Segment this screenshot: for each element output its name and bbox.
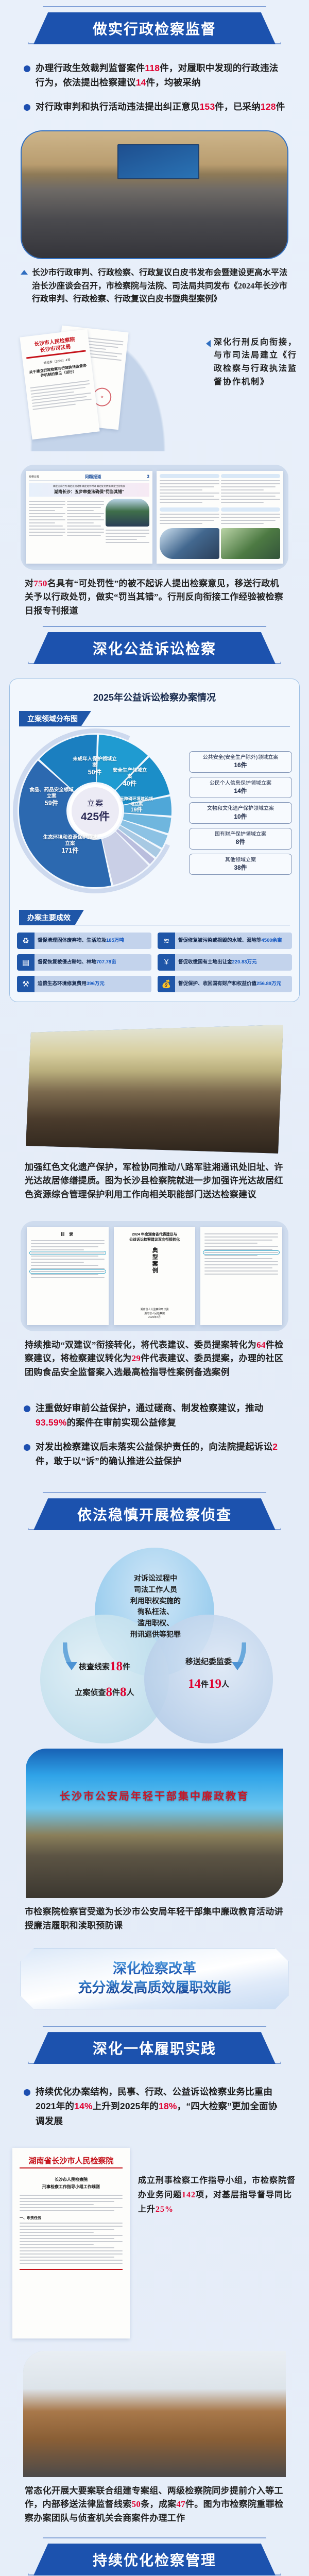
doc-caption-row: 深化行刑反向衔接，与市司法局建立《行政检察与行政执法监督协作机制》: [206, 336, 299, 388]
slice-label-minors: 未成年人保护领域立案50件: [73, 756, 117, 776]
legend-item: 公共安全(安全生产除外)领域立案16件: [189, 751, 292, 773]
bullet-text-pre: 注重做好审前公益保护，通过磋商、制发检察建议，推动: [36, 1403, 264, 1413]
photo-screen-title: 长沙市公安局年轻干部集中廉政教育: [26, 1788, 283, 1803]
photo-conference-whitepaper: [21, 130, 288, 259]
caption-post: 名具有“可处罚性”的被不起诉人提出检察意见，移送行政机关予以行政处罚，做实“罚当…: [25, 579, 283, 616]
bullet-number: 128: [261, 101, 276, 112]
bullet-text: 注重做好审前公益保护，通过磋商、制发检察建议，推动93.59%的案件在审前实现公…: [36, 1401, 285, 1430]
banner-label: 深化公益诉讼检察: [33, 632, 276, 664]
venn-left-line2: 立案侦查8件8人: [49, 1680, 160, 1705]
repair-icon: ⚒: [17, 976, 35, 992]
effect-item: ¥督促收缴国有土地出让金220.83万元: [158, 954, 292, 971]
venn-left-l2-number1: 8: [106, 1685, 112, 1699]
doc-center-title-1: 2024 年度湖南省代表建议与: [132, 1232, 177, 1238]
effect-text: 追偿生态环境修复费用396万元: [35, 979, 108, 989]
chart-title: 2025年公益诉讼检察办案情况: [17, 690, 292, 704]
bullet-dot-icon: [24, 1405, 30, 1412]
newspaper-page-left: 检察日报 问题报道 3 确定违法行为 确定处罚对象 确定处罚时效 确定处罚依据 …: [26, 471, 152, 564]
slice-label-text: 未成年人保护领域立案: [73, 756, 117, 768]
caption-pre: 对: [25, 579, 33, 588]
caption-a: 持续推动“双建议”衔接转化，将代表建议、委员提案转化为: [25, 1340, 256, 1350]
legend-item: 公民个人信息保护领域立案14件: [189, 777, 292, 799]
docs-three-wrap: 目 录 2024 年度湖南省代表建议与 公益诉讼检察建议双向衔接转化 典型案例 …: [0, 1218, 309, 1334]
venn-left-l2-unit2: 人: [127, 1689, 134, 1697]
effect-item: ≋督促修复被污染或损毁的水域、湿地等4500余亩: [158, 933, 292, 949]
newspaper-block: 检察日报 问题报道 3 确定违法行为 确定处罚对象 确定处罚时效 确定处罚依据 …: [21, 465, 288, 570]
caption-number: 64: [256, 1340, 266, 1350]
newspaper-kicker: 确定违法行为 确定处罚对象 确定处罚时效 确定处罚依据 确定主管机关: [30, 485, 148, 488]
donut-center-value: 425件: [81, 808, 110, 824]
legend-value: 10件: [193, 812, 288, 821]
banner-label: 做实行政检察监督: [33, 12, 276, 44]
legend-label: 国有财产保护领域立案: [215, 832, 266, 837]
investigation-venn-diagram: 对诉讼过程中司法工作人员利用职权实施的徇私枉法、滥用职权、刑讯逼供等犯罪 核查线…: [0, 1547, 309, 1742]
bullet-text-mid: 件，已采纳: [215, 101, 261, 112]
bullet-text: 办理行政生效裁判监督案件118件，对履职中发现的行政违法行为，依法提出检察建议1…: [36, 61, 285, 90]
venn-right-number2: 19: [209, 1677, 221, 1691]
legend-value: 8件: [193, 838, 288, 846]
photo-scene: [26, 1025, 283, 1154]
banner-label: 依法稳慎开展检察侦查: [33, 1498, 276, 1530]
bullet-dot-icon: [24, 2089, 30, 2096]
bullet-item: 办理行政生效裁判监督案件118件，对履职中发现的行政违法行为，依法提出检察建议1…: [24, 61, 285, 90]
slice-label-value: 59件: [29, 800, 74, 808]
caption-number: 29: [132, 1353, 141, 1363]
photo-scene: [22, 131, 287, 258]
venn-top-line: 司法工作人员: [110, 1585, 201, 1596]
slice-label-text: 生态环境和资源保护领域立案: [43, 835, 97, 846]
chart-subsection-fields: 立案领域分布图: [19, 711, 290, 726]
slice-label-eco-resource: 生态环境和资源保护领域立案171件: [42, 835, 98, 855]
doc-协作机制-block: ★ ★ 长沙市人民检察院 长沙市司法局 长检发〔2025〕4号 关于建立行政检察…: [0, 317, 309, 462]
bullet-dot-icon: [24, 65, 30, 72]
doc-center-date: 2025年4月: [141, 1316, 169, 1320]
doc-org: 湖南省长沙市人民检察院: [20, 2155, 123, 2166]
legend-label: 文物和文化遗产保护领域立案: [207, 806, 274, 811]
venn-left-l2-number2: 8: [120, 1685, 127, 1699]
newspaper-section: 问题报道: [85, 474, 101, 480]
venn-top-line: 对诉讼过程中: [110, 1573, 201, 1585]
photo-scene: 长沙市公安局年轻干部集中廉政教育: [26, 1749, 283, 1898]
venn-right-text: 移送纪委监委 14件19人: [150, 1655, 267, 1696]
bullet-text-post: 件，敢于以“诉”的确认推进公益保护: [36, 1456, 181, 1466]
legend-label: 公共安全(安全生产除外)领域立案: [203, 755, 279, 760]
triangle-left-icon: [206, 340, 211, 347]
photo-handover-suggestion: [26, 1025, 283, 1154]
newspaper-headline: 湖南长沙：五步审查法确保“罚当其错”: [30, 489, 148, 495]
effect-value: 396万元: [87, 981, 105, 987]
chart-subsection-effects: 办案主要成效: [19, 910, 290, 925]
section-banner-case-management: 持续优化检察管理: [0, 2527, 309, 2576]
section-banner-investigation: 依法稳慎开展检察侦查: [0, 1482, 309, 1541]
bullet-text: 对发出检察建议后未落实公益保护责任的，向法院提起诉讼2件，敢于以“诉”的确认推进…: [36, 1439, 285, 1469]
document-toc-continued: [200, 1227, 282, 1325]
caption-number: 50: [132, 2499, 141, 2509]
bullet-text-mid: 上升到2025年的: [93, 2101, 159, 2111]
legend-item: 国有财产保护领域立案8件: [189, 828, 292, 850]
venn-right-line1: 移送纪委监委: [150, 1655, 267, 1670]
doc-center-org-1: 湖南省人大监察和司法委: [141, 1308, 169, 1312]
mega-header-line1: 深化检察改革: [26, 1960, 283, 1978]
effect-text: 督促保护、收回国有财产和权益价值256.89万元: [175, 979, 284, 989]
bullet-text-pre: 办理行政生效裁判监督案件: [36, 63, 145, 73]
section-banner-admin-supervision: 做实行政检察监督: [0, 0, 309, 56]
document-criminal-rules: 湖南省长沙市人民检察院 长沙市人民检察院 刑事检察工作指导小组工作规则 一、职责…: [12, 2148, 130, 2338]
side-caption-number: 142: [182, 2191, 196, 2199]
admin-supervision-bullets: 办理行政生效裁判监督案件118件，对履职中发现的行政违法行为，依法提出检察建议1…: [0, 56, 309, 127]
public-interest-chart-panel: 2025年公益诉讼检察办案情况 立案领域分布图 立案 425件 食品、药品安全领…: [9, 679, 300, 1002]
public-interest-bullets: 注重做好审前公益保护，通过磋商、制发检察建议，推动93.59%的案件在审前实现公…: [0, 1396, 309, 1482]
effect-text-pre: 督促收缴国有土地出让金: [178, 959, 232, 965]
venn-left-line1: 核查线索18件: [49, 1654, 160, 1680]
effect-text: 督促收缴国有土地出让金220.83万元: [175, 958, 260, 967]
donut-wrapper: 立案 425件 食品、药品安全领域立案59件 未成年人保护领域立案50件 安全生…: [18, 734, 173, 888]
bullet-item: 对行政审判和执行活动违法提出纠正意见153件，已采纳128件: [24, 99, 285, 114]
doc-title-line2: 刑事检察工作指导小组工作规则: [20, 2184, 123, 2190]
photo-police-education: 长沙市公安局年轻干部集中廉政教育: [26, 1749, 283, 1898]
bullet-number: 14: [136, 77, 146, 88]
caption-number: 47: [176, 2499, 185, 2509]
donut-chart: 立案 425件 食品、药品安全领域立案59件 未成年人保护领域立案50件 安全生…: [17, 731, 292, 901]
slice-label-value: 50件: [73, 769, 117, 777]
effect-item: ⚒追偿生态环境修复费用396万元: [17, 976, 151, 992]
doc-title-line1: 长沙市人民检察院: [20, 2177, 123, 2182]
venn-top-line: 刑讯逼供等犯罪: [110, 1630, 201, 1641]
photo-conference-whitepaper-wrap: [0, 127, 309, 262]
bullet-dot-icon: [24, 1444, 30, 1451]
doc-caption: 深化行刑反向衔接，与市司法局建立《行政检察与行政执法监督协作机制》: [214, 336, 299, 388]
docs-three-caption: 持续推动“双建议”衔接转化，将代表建议、委员提案转化为64件检察建议，将检察建议…: [0, 1334, 309, 1381]
bullet-number: 2: [272, 1442, 278, 1452]
caption-number: 750: [33, 579, 47, 588]
bullet-text-pre: 对行政审判和执行活动违法提出纠正意见: [36, 101, 200, 112]
slice-label-text: 食品、药品安全领域立案: [29, 787, 74, 799]
bullet-item: 对发出检察建议后未落实公益保护责任的，向法院提起诉讼2件，敢于以“诉”的确认推进…: [24, 1439, 285, 1469]
venn-left-l2-label: 立案侦查: [75, 1689, 106, 1697]
photo-caption-whitepaper: 长沙市行政审判、行政检察、行政复议白皮书发布会暨建设更高水平法治长沙座谈会召开，…: [32, 266, 288, 306]
venn-left-l1-unit: 件: [123, 1663, 130, 1671]
venn-left-l2-unit1: 件: [112, 1689, 120, 1697]
section-banner-public-interest: 深化公益诉讼检察: [0, 620, 309, 675]
yuan-icon: ¥: [158, 954, 175, 971]
photo-scene: [23, 2351, 286, 2477]
venn-top-text: 对诉讼过程中司法工作人员利用职权实施的徇私枉法、滥用职权、刑讯逼供等犯罪: [110, 1573, 201, 1640]
newspaper-page-right: [157, 471, 283, 564]
recycle-icon: ♻: [17, 933, 35, 949]
slice-label-safety-production: 安全生产领域立案40件: [112, 768, 148, 788]
legend-label: 公民个人信息保护领域立案: [210, 781, 271, 786]
photo-caption-red-heritage: 加强红色文化遗产保护，军检协同推动八路军驻湘通讯处旧址、许光达故居修缮提质。图为…: [0, 1157, 309, 1204]
photo-caption-whitepaper-row: 长沙市行政审判、行政检察、行政复议白皮书发布会暨建设更高水平法治长沙座谈会召开，…: [0, 262, 309, 308]
rule-doc-and-caption: 湖南省长沙市人民检察院 长沙市人民检察院 刑事检察工作指导小组工作规则 一、职责…: [0, 2142, 309, 2338]
venn-right-line2: 14件19人: [150, 1672, 267, 1697]
effect-text: 督促恢复被侵占耕地、林地707.78亩: [35, 958, 119, 967]
slice-label-value: 171件: [42, 847, 98, 855]
effect-text-pre: 追偿生态环境修复费用: [38, 981, 87, 987]
effect-text: 督促清理固体废弃物、生活垃圾185万吨: [35, 936, 127, 945]
effect-value: 707.78亩: [96, 959, 116, 965]
photo-caption-case-discussion: 常态化开展大要案联合组建专案组、两级检察院同步提前介入等工作，内部移送法律监督线…: [0, 2480, 309, 2527]
doc-lines: [25, 376, 96, 415]
photo-case-discussion-wrap: [0, 2348, 309, 2480]
legend-value: 16件: [193, 761, 288, 769]
effect-text-pre: 督促保护、收回国有财产和权益价值: [178, 981, 256, 987]
venn-top-line: 徇私枉法、: [110, 1607, 201, 1618]
effect-value: 4500余亩: [262, 938, 282, 943]
document-toc: 目 录: [27, 1227, 109, 1325]
side-caption-number: 25%: [156, 2205, 174, 2214]
doc-center-heading: 典型案例: [150, 1247, 159, 1286]
bullet-text-pre: 对发出检察建议后未落实公益保护责任的，向法院提起诉讼: [36, 1442, 272, 1452]
water-icon: ≋: [158, 933, 175, 949]
triangle-up-icon: [21, 270, 28, 275]
legend-item: 其他领域立案38件: [189, 854, 292, 875]
photo-handover-wrap: [0, 1022, 309, 1157]
doc-heading-duties: 一、职责任务: [20, 2215, 123, 2221]
legend-value: 38件: [193, 863, 288, 872]
photo-case-discussion: [23, 2351, 286, 2477]
effect-text-pre: 督促恢复被侵占耕地、林地: [38, 959, 96, 965]
effect-item: 💰督促保护、收回国有财产和权益价值256.89万元: [158, 976, 292, 992]
photo-police-education-wrap: 长沙市公安局年轻干部集中廉政教育: [0, 1745, 309, 1901]
slice-label-value: 19件: [119, 807, 154, 814]
slice-label-text: 无障碍环境建设领域立案: [120, 796, 153, 806]
mega-header-line2: 充分激发高质效履职效能: [26, 1979, 283, 1997]
banner-label: 持续优化检察管理: [33, 2544, 276, 2575]
bullet-text: 对行政审判和执行活动违法提出纠正意见153件，已采纳128件: [36, 99, 285, 114]
slice-label-text: 安全生产领域立案: [113, 768, 147, 779]
section-mega-header-reform: 深化检察改革 充分激发高质效履职效能: [0, 1935, 309, 2020]
effect-value: 220.83万元: [232, 959, 257, 965]
legend-value: 14件: [193, 787, 288, 795]
bullet-number: 18%: [159, 2101, 177, 2111]
moneybag-icon: 💰: [158, 976, 175, 992]
docs-three-block: 目 录 2024 年度湖南省代表建议与 公益诉讼检察建议双向衔接转化 典型案例 …: [21, 1221, 288, 1331]
bullet-text: 持续优化办案结构，民事、行政、公益诉讼检察业务比重由2021年的14%上升到20…: [36, 2084, 285, 2128]
bullet-item: 持续优化办案结构，民事、行政、公益诉讼检察业务比重由2021年的14%上升到20…: [24, 2084, 285, 2128]
venn-right-number1: 14: [188, 1677, 201, 1691]
donut-center: 立案 425件: [68, 784, 122, 838]
bullet-dot-icon: [24, 104, 30, 111]
newspaper-block-wrap: 检察日报 问题报道 3 确定违法行为 确定处罚对象 确定处罚时效 确定处罚依据 …: [0, 462, 309, 573]
venn-right-unit1: 件: [201, 1681, 209, 1689]
venn-left-l1-label: 核查线索: [79, 1663, 110, 1671]
donut-center-label: 立案: [87, 798, 104, 808]
banner-label: 深化一体履职实践: [33, 2032, 276, 2064]
newspaper-page-number: 3: [147, 474, 149, 479]
slice-label-food-drug: 食品、药品安全领域立案59件: [29, 787, 74, 807]
mega-header: 深化检察改革 充分激发高质效履职效能: [21, 1948, 288, 2009]
venn-left-l1-number: 18: [110, 1659, 123, 1673]
effect-item: ♻督促清理固体废弃物、生活垃圾185万吨: [17, 933, 151, 949]
venn-top-line: 利用职权实施的: [110, 1596, 201, 1607]
legend-item: 文物和文化遗产保护领域立案10件: [189, 802, 292, 824]
effect-value: 256.89万元: [256, 981, 281, 987]
legend-label: 其他领域立案: [225, 857, 256, 863]
bullet-text-post: 的案件在审前实现公益修复: [67, 1417, 176, 1428]
venn-left-text: 核查线索18件 立案侦查8件8人: [49, 1654, 160, 1705]
effect-text: 督促修复被污染或损毁的水域、湿地等4500余亩: [175, 936, 285, 945]
document-page-left: 长沙市人民检察院 长沙市司法局 长检发〔2025〕4号 关于建立行政检察与行政执…: [20, 329, 99, 440]
venn-top-line: 滥用职权、: [110, 1618, 201, 1630]
rule-doc-side-caption: 成立刑事检察工作指导小组，市检察院督办业务问题142项，对基层指导督导同比上升2…: [135, 2148, 297, 2217]
effect-text-pre: 督促修复被污染或损毁的水域、湿地等: [178, 938, 262, 943]
effect-item: ▤督促恢复被侵占耕地、林地707.78亩: [17, 954, 151, 971]
bullet-number: 93.59%: [36, 1417, 67, 1428]
caption-b: 条，成案: [141, 2499, 176, 2509]
bullet-text-post: 件，均被采纳: [146, 77, 201, 88]
newspaper-caption: 对750名具有“可处罚性”的被不起诉人提出检察意见，移送行政机关予以行政处罚，做…: [0, 573, 309, 620]
chart-subsection-tag: 立案领域分布图: [19, 711, 91, 726]
venn-right-unit2: 人: [221, 1681, 229, 1689]
effect-text-pre: 督促清理固体废弃物、生活垃圾: [38, 938, 106, 943]
slice-label-barrier-free: 无障碍环境建设领域立案19件: [119, 796, 154, 814]
slice-label-value: 40件: [112, 780, 148, 788]
section-banner-integrated-duty: 深化一体履职实践: [0, 2020, 309, 2075]
chart-callout-legend: 公共安全(安全生产除外)领域立案16件 公民个人信息保护领域立案14件 文物和文…: [189, 751, 292, 879]
document-typical-cases: 2024 年度湖南省代表建议与 公益诉讼检察建议双向衔接转化 典型案例 湖南省人…: [114, 1227, 196, 1325]
effect-value: 185万吨: [106, 938, 124, 943]
farmland-icon: ▤: [17, 954, 35, 971]
bullet-number: 14%: [74, 2101, 93, 2111]
bullet-number: 118: [145, 63, 160, 73]
bullet-item: 注重做好审前公益保护，通过磋商、制发检察建议，推动93.59%的案件在审前实现公…: [24, 1401, 285, 1430]
effects-grid: ♻督促清理固体废弃物、生活垃圾185万吨 ≋督促修复被污染或损毁的水域、湿地等4…: [17, 933, 292, 992]
doc-center-title-2: 公益诉讼检察建议双向衔接转化: [129, 1238, 180, 1243]
photo-caption-police-education: 市检察院检察官受邀为长沙市公安局年轻干部集中廉政教育活动讲授廉洁履职和渎职预防课: [0, 1901, 309, 1935]
doc-toc-title: 目 录: [30, 1231, 106, 1237]
integrated-duty-bullets: 持续优化办案结构，民事、行政、公益诉讼检察业务比重由2021年的14%上升到20…: [0, 2075, 309, 2142]
bullet-text-post: 件: [276, 101, 285, 112]
chart-subsection-tag: 办案主要成效: [19, 910, 84, 925]
bullet-number: 153: [200, 101, 215, 112]
